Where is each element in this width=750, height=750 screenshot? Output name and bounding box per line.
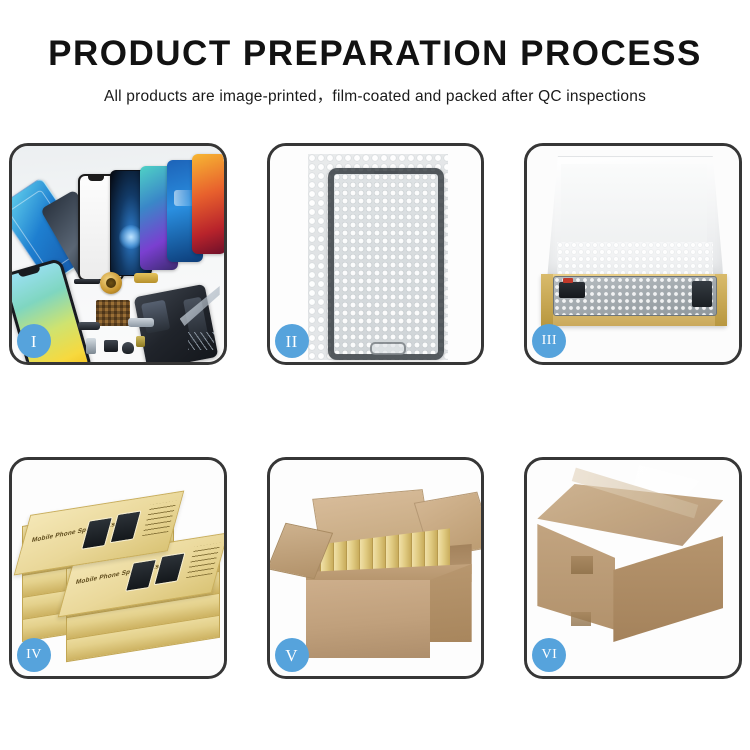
wrapped-phone-screen: [328, 168, 444, 360]
step-numeral: V: [285, 647, 298, 664]
step-numeral: IV: [26, 648, 42, 662]
sim-tray-part: [86, 338, 96, 354]
gold-clip-part: [136, 336, 145, 347]
process-steps-grid: I II: [9, 143, 742, 679]
step-panel-3[interactable]: III: [524, 143, 742, 365]
box-product-thumbnail: [81, 517, 113, 550]
flex-cable-part: [74, 279, 100, 284]
screw-grid-part: [96, 300, 130, 326]
step-panel-2[interactable]: II: [267, 143, 485, 365]
orange-gradient-screen: [192, 154, 224, 254]
step-panel-4[interactable]: Mobile Phone Spare Parts Mobile Phone Sp…: [9, 457, 227, 679]
step-numeral: III: [542, 334, 558, 348]
step-numeral: II: [286, 333, 298, 350]
step-numeral: VI: [541, 648, 557, 662]
box-product-thumbnail: [154, 552, 186, 585]
box-product-thumbnail: [125, 559, 157, 592]
box-product-thumbnail: [110, 510, 142, 543]
header: PRODUCT PREPARATION PROCESS All products…: [0, 0, 750, 106]
small-flex-part: [78, 322, 100, 330]
step-badge-5: V: [275, 638, 309, 672]
step-badge-2: II: [275, 324, 309, 358]
page-subtitle: All products are image-printed，film-coat…: [0, 73, 750, 106]
screw-scatter: [188, 332, 214, 350]
speaker-part: [122, 342, 134, 354]
page-title: PRODUCT PREPARATION PROCESS: [0, 0, 750, 73]
retail-box-stack: Mobile Phone Spare Parts Mobile Phone Sp…: [18, 482, 220, 660]
step-badge-1: I: [17, 324, 51, 358]
metal-bracket-part: [128, 318, 154, 327]
carton-front-face: [306, 580, 430, 658]
wrapped-screen-in-box: [553, 276, 717, 316]
step-panel-6[interactable]: VI: [524, 457, 742, 679]
step-panel-5[interactable]: V: [267, 457, 485, 679]
carton-handle-tab: [571, 556, 593, 574]
red-label-tab: [563, 278, 573, 283]
step-numeral: I: [31, 333, 37, 350]
gold-connector-part: [134, 273, 158, 283]
process-row-bottom: Mobile Phone Spare Parts Mobile Phone Sp…: [9, 457, 742, 679]
product-preparation-infographic: PRODUCT PREPARATION PROCESS All products…: [0, 0, 750, 750]
box-spec-text-lines: [142, 501, 177, 536]
copper-coil-part: [100, 272, 122, 294]
carton-handle-tab: [571, 612, 591, 626]
step-panel-1[interactable]: I: [9, 143, 227, 365]
process-row-top: I II: [9, 143, 742, 365]
step-badge-4: IV: [17, 638, 51, 672]
box-spec-text-lines: [186, 543, 221, 578]
ic-chip-part: [104, 340, 118, 352]
